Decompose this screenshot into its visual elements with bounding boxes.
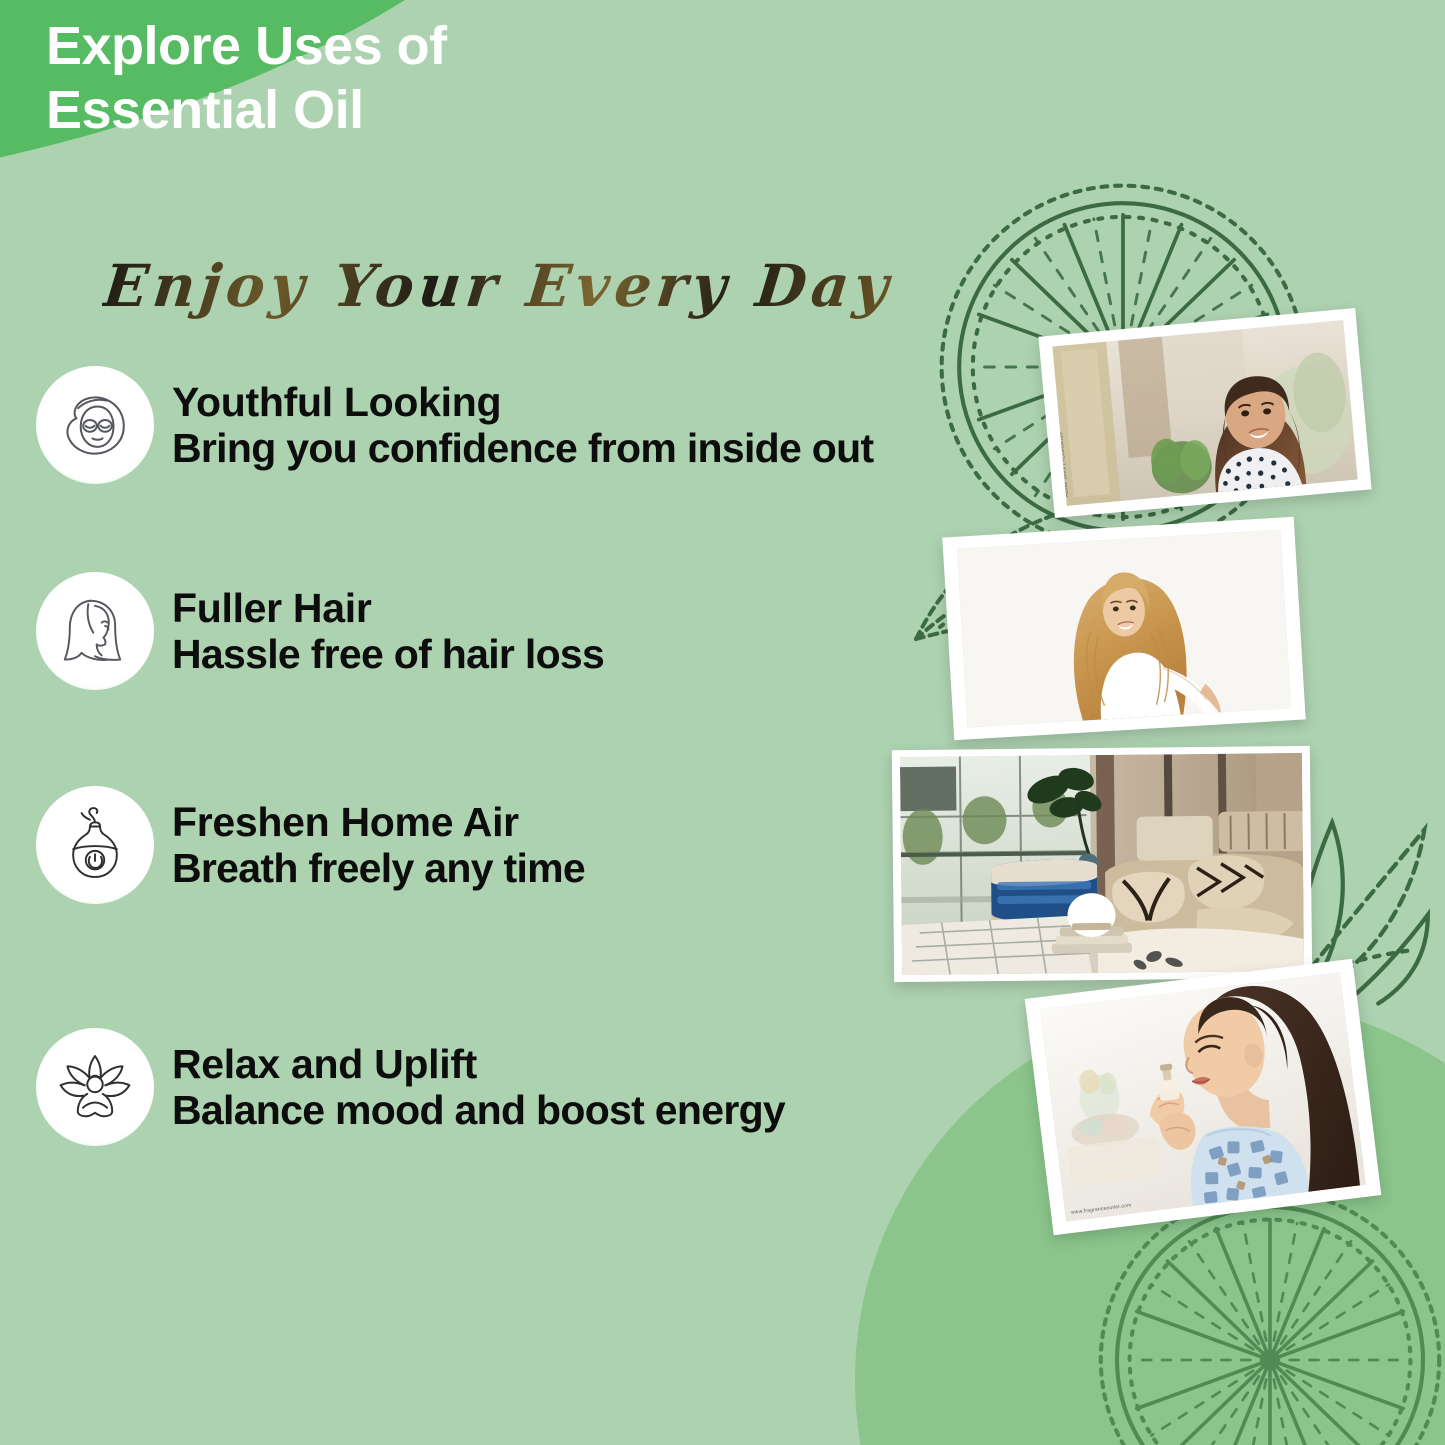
page-title: Explore Uses of Essential Oil	[46, 14, 447, 143]
poster-root: Explore Uses of Essential Oil Enjoy Your…	[0, 0, 1445, 1445]
feature-title: Fuller Hair	[172, 587, 604, 630]
photo-woman-applying-perfume: www.fragranceoutlet.com	[1025, 959, 1382, 1235]
tagline: Enjoy Your Every Day	[100, 252, 896, 320]
face-mask-icon	[36, 366, 154, 484]
feature-row-relax-and-uplift: Relax and Uplift Balance mood and boost …	[36, 1028, 785, 1146]
photo-image: www.fragranceoutlet.com	[1040, 972, 1366, 1221]
feature-text: Freshen Home Air Breath freely any time	[172, 801, 585, 889]
long-hair-profile-icon	[36, 572, 154, 690]
feature-subtitle: Hassle free of hair loss	[172, 633, 604, 676]
photo-living-room-diffuser	[892, 746, 1312, 982]
aroma-diffuser-icon	[36, 786, 154, 904]
photo-smiling-woman: Adobe Stock | #123456789	[1038, 308, 1371, 518]
feature-text: Fuller Hair Hassle free of hair loss	[172, 587, 604, 675]
feature-text: Youthful Looking Bring you confidence fr…	[172, 381, 873, 469]
photo-image	[900, 753, 1304, 975]
feature-subtitle: Breath freely any time	[172, 847, 585, 890]
feature-subtitle: Bring you confidence from inside out	[172, 427, 873, 470]
photo-blonde-long-hair	[942, 517, 1305, 741]
feature-row-youthful-looking: Youthful Looking Bring you confidence fr…	[36, 366, 873, 484]
photo-image: Adobe Stock | #123456789	[1052, 320, 1357, 506]
feature-title: Relax and Uplift	[172, 1043, 785, 1086]
feature-title: Youthful Looking	[172, 381, 873, 424]
feature-row-freshen-home-air: Freshen Home Air Breath freely any time	[36, 786, 585, 904]
feature-title: Freshen Home Air	[172, 801, 585, 844]
photo-image	[957, 530, 1291, 728]
feature-row-fuller-hair: Fuller Hair Hassle free of hair loss	[36, 572, 604, 690]
feature-subtitle: Balance mood and boost energy	[172, 1089, 785, 1132]
lotus-meditation-icon	[36, 1028, 154, 1146]
feature-text: Relax and Uplift Balance mood and boost …	[172, 1043, 785, 1131]
